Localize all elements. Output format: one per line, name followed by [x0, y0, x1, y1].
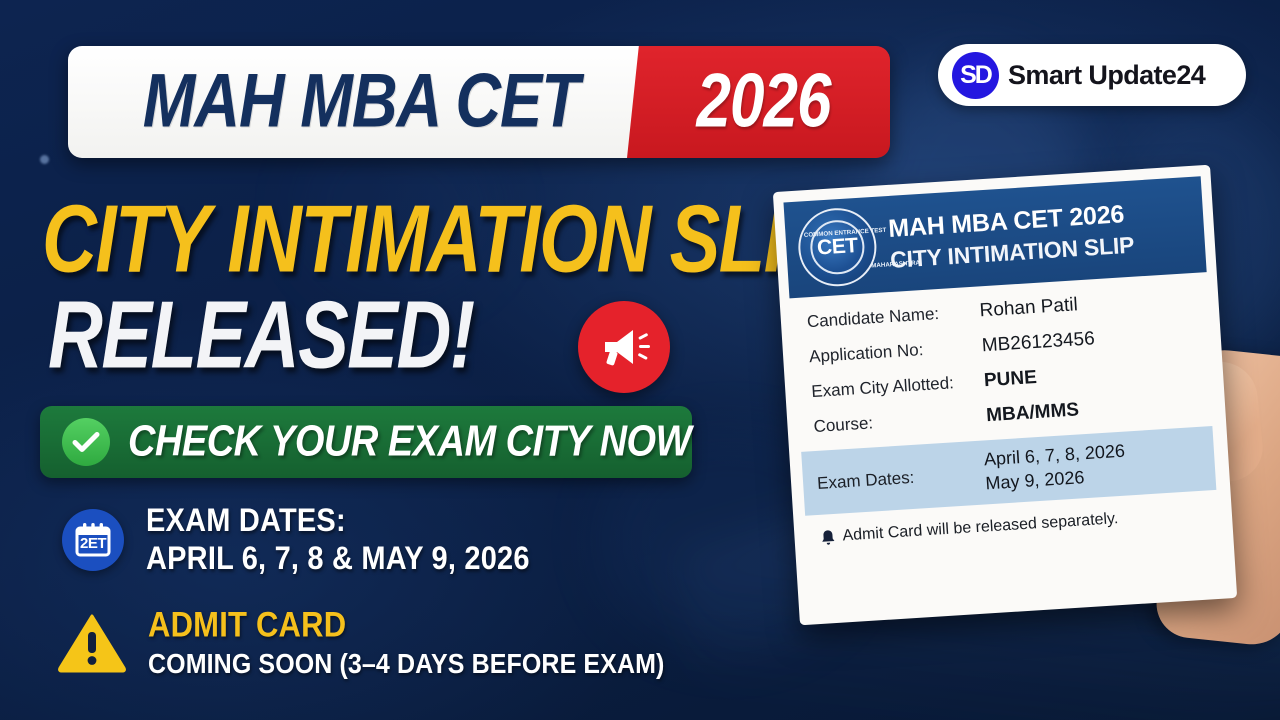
cet-seal-ring-top: COMMON ENTRANCE TEST — [804, 227, 887, 239]
megaphone-icon — [578, 301, 670, 393]
slip-card-body: Candidate Name: Rohan Patil Application … — [790, 272, 1216, 439]
headline-line2: RELEASED! — [48, 288, 474, 384]
calendar-glyph-text: 2ET — [74, 535, 112, 552]
poster-canvas: MAH MBA CET 2026 SD Smart Update24 CITY … — [0, 0, 1280, 720]
title-banner-red-section: 2026 — [627, 46, 890, 158]
cet-seal-ring-text: COMMON ENTRANCE TEST MAHARASHTRA — [798, 208, 877, 287]
slip-field-value: Rohan Patil — [979, 294, 1078, 322]
title-year-text: 2026 — [687, 64, 831, 140]
admit-card-value: COMING SOON (3–4 DAYS BEFORE EXAM) — [148, 648, 664, 679]
cet-seal-icon: COMMON ENTRANCE TEST MAHARASHTRA CET — [796, 206, 879, 289]
bell-icon — [820, 528, 836, 546]
slip-field-value: PUNE — [983, 367, 1037, 392]
slip-field-value: MBA/MMS — [986, 399, 1080, 427]
brand-name: Smart Update24 — [1008, 60, 1205, 91]
admit-card-row: ADMIT CARD COMING SOON (3–4 DAYS BEFORE … — [58, 608, 664, 678]
exam-dates-value: APRIL 6, 7, 8 & MAY 9, 2026 — [146, 542, 530, 578]
calendar-icon: 2ET — [62, 509, 124, 571]
slip-field-label: Course: — [813, 406, 987, 437]
warning-triangle-icon — [58, 613, 126, 673]
slip-field-label: Exam City Allotted: — [811, 371, 985, 402]
slip-exam-dates-label: Exam Dates: — [816, 449, 986, 493]
brand-monogram-icon: SD — [952, 52, 999, 99]
city-intimation-slip-card: COMMON ENTRANCE TEST MAHARASHTRA CET MAH… — [773, 165, 1237, 626]
check-exam-city-banner[interactable]: CHECK YOUR EXAM CITY NOW — [40, 406, 692, 478]
check-circle-icon — [62, 418, 110, 466]
title-banner-white-section: MAH MBA CET — [68, 46, 653, 158]
headline-line1: CITY INTIMATION SLIP — [42, 192, 833, 288]
slip-field-label: Application No: — [809, 336, 983, 367]
background-dot — [40, 155, 49, 164]
exam-dates-label: EXAM DATES: — [146, 503, 530, 539]
exam-dates-row: 2ET EXAM DATES: APRIL 6, 7, 8 & MAY 9, 2… — [62, 505, 530, 576]
admit-card-label: ADMIT CARD — [148, 606, 664, 646]
slip-field-label: Candidate Name: — [806, 301, 980, 332]
title-main-text: MAH MBA CET — [142, 64, 578, 140]
title-banner: MAH MBA CET 2026 — [68, 46, 890, 158]
check-exam-city-label: CHECK YOUR EXAM CITY NOW — [128, 417, 691, 466]
brand-logo-pill: SD Smart Update24 — [938, 44, 1246, 106]
slip-field-value: MB26123456 — [981, 328, 1095, 357]
slip-note-text: Admit Card will be released separately. — [842, 510, 1119, 545]
